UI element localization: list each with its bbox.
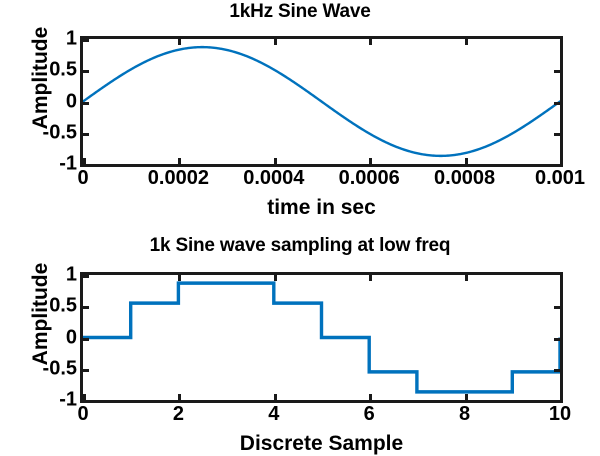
sine-wave-curve [83, 39, 560, 164]
x-tick-label-bottom-8: 8 [459, 403, 470, 426]
x-tick-label-bottom-0: 0 [77, 403, 88, 426]
plot-title-top: 1kHz Sine Wave [0, 1, 600, 23]
x-tick-label-top-0: 0 [77, 167, 88, 190]
x-tick-top-0 [83, 158, 86, 164]
y-tick-bottom-1 [83, 275, 89, 278]
y-tick-label-top-1: 1 [66, 28, 77, 51]
y-tick-bottom-m0.5 [83, 369, 89, 372]
y-tick-right-top-0 [554, 102, 560, 105]
plot-area-bottom: 1 0.5 0 -0.5 -1 0 2 4 6 8 10 [80, 272, 563, 403]
y-tick-label-top-m1: -1 [59, 153, 77, 176]
x-tick-top-0.0008 [465, 158, 468, 164]
x-tick-upper-top-0.0006 [369, 39, 372, 45]
x-tick-upper-bottom-6 [369, 275, 372, 281]
y-tick-label-bottom-0.5: 0.5 [49, 295, 77, 318]
y-tick-top-0.5 [83, 70, 89, 73]
x-tick-bottom-4 [274, 394, 277, 400]
x-tick-upper-top-0.0004 [274, 39, 277, 45]
x-tick-label-bottom-4: 4 [268, 403, 279, 426]
x-tick-top-0.0004 [274, 158, 277, 164]
x-tick-top-0.0002 [178, 158, 181, 164]
y-tick-label-top-0.5: 0.5 [49, 59, 77, 82]
x-tick-bottom-0 [83, 394, 86, 400]
y-tick-right-bottom-0 [554, 338, 560, 341]
x-tick-upper-bottom-8 [465, 275, 468, 281]
x-tick-top-0.001 [560, 158, 563, 164]
x-tick-top-0.0006 [369, 158, 372, 164]
x-tick-bottom-10 [560, 394, 563, 400]
y-tick-right-top-m0.5 [554, 133, 560, 136]
y-tick-top-0 [83, 102, 89, 105]
y-tick-label-bottom-1: 1 [66, 264, 77, 287]
x-tick-label-top-0.0004: 0.0004 [243, 167, 304, 190]
y-tick-label-bottom-0: 0 [66, 326, 77, 349]
x-tick-label-bottom-6: 6 [364, 403, 375, 426]
x-tick-upper-bottom-2 [178, 275, 181, 281]
plot-area-top: 1 0.5 0 -0.5 -1 0 0.0002 0.0004 0.0006 0… [80, 36, 563, 167]
x-tick-label-top-0.0008: 0.0008 [434, 167, 495, 190]
y-tick-label-top-0: 0 [66, 90, 77, 113]
axes-sampled-sine: 1k Sine wave sampling at low freq Amplit… [0, 228, 600, 455]
y-tick-bottom-0 [83, 338, 89, 341]
x-tick-upper-bottom-4 [274, 275, 277, 281]
x-tick-label-bottom-2: 2 [173, 403, 184, 426]
x-tick-label-bottom-10: 10 [549, 403, 571, 426]
axes-sine-wave: 1kHz Sine Wave Amplitude [0, 0, 600, 228]
x-tick-label-top-0.001: 0.001 [535, 167, 585, 190]
y-tick-top-1 [83, 39, 89, 42]
x-tick-bottom-8 [465, 394, 468, 400]
x-tick-label-top-0.0006: 0.0006 [339, 167, 400, 190]
y-tick-top-m0.5 [83, 133, 89, 136]
x-tick-upper-top-0.0002 [178, 39, 181, 45]
plot-title-bottom: 1k Sine wave sampling at low freq [0, 235, 600, 257]
y-tick-label-bottom-m0.5: -0.5 [43, 357, 77, 380]
x-axis-label-bottom: Discrete Sample [80, 432, 563, 456]
x-tick-bottom-2 [178, 394, 181, 400]
y-tick-right-top-0.5 [554, 70, 560, 73]
stairstep-curve [83, 275, 560, 400]
x-tick-bottom-6 [369, 394, 372, 400]
x-tick-label-top-0.0002: 0.0002 [148, 167, 209, 190]
y-tick-right-bottom-m0.5 [554, 369, 560, 372]
x-axis-label-top: time in sec [80, 196, 563, 220]
y-tick-bottom-0.5 [83, 306, 89, 309]
matlab-figure: 1kHz Sine Wave Amplitude [0, 0, 600, 455]
x-tick-upper-top-0.0008 [465, 39, 468, 45]
y-tick-label-bottom-m1: -1 [59, 389, 77, 412]
y-tick-right-bottom-0.5 [554, 306, 560, 309]
y-tick-label-top-m0.5: -0.5 [43, 121, 77, 144]
